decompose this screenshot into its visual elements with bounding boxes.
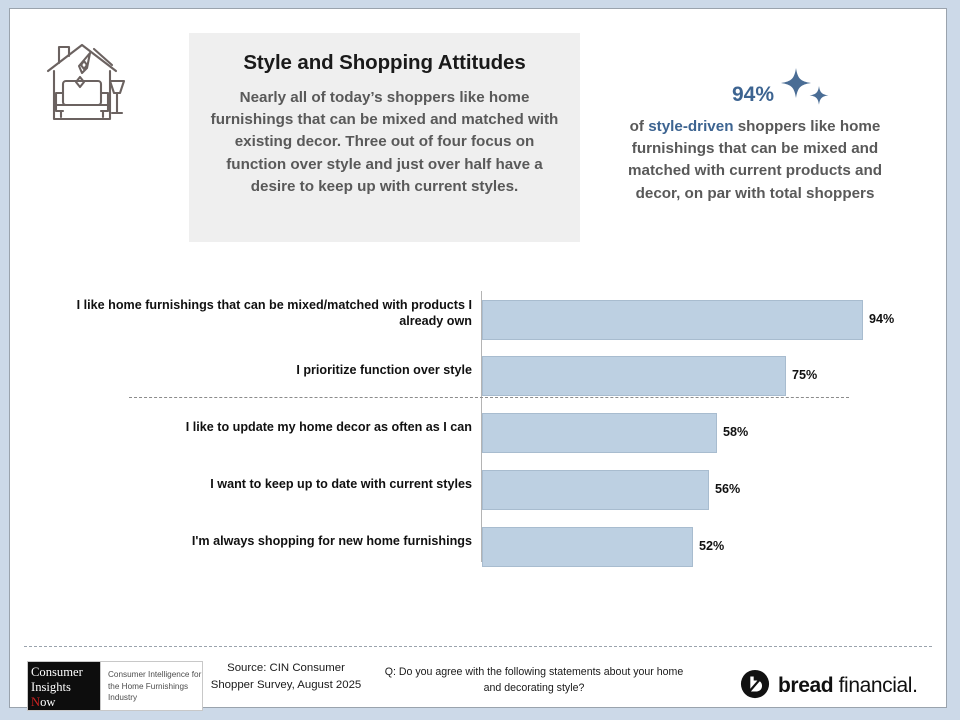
bar-label: I'm always shopping for new home furnish… — [70, 533, 472, 549]
home-decor-icon — [32, 33, 132, 133]
bar-label: I like home furnishings that can be mixe… — [70, 297, 472, 329]
summary-text: Nearly all of today’s shoppers like home… — [203, 87, 566, 198]
cin-logo-tagline: Consumer Intelligence for the Home Furni… — [100, 662, 202, 710]
page-title: Style and Shopping Attitudes — [203, 51, 566, 75]
cin-logo-line3: Now — [31, 695, 100, 710]
bar-fill — [482, 300, 863, 340]
callout-panel: 94% of style-driven shoppers like home f… — [610, 79, 900, 205]
cin-logo-n: N — [31, 695, 40, 709]
callout-stat-row: 94% — [610, 79, 900, 113]
bar-value-label: 52% — [699, 539, 724, 553]
cin-logo-line2: Insights — [31, 680, 100, 695]
bread-financial-logo: bread financial. — [740, 670, 918, 702]
chart-row: I want to keep up to date with current s… — [10, 467, 948, 511]
question-note: Q: Do you agree with the following state… — [378, 665, 690, 696]
bread-financial-wordmark: bread financial. — [778, 674, 918, 698]
callout-highlight: style-driven — [648, 118, 733, 135]
sparkles-icon — [778, 66, 838, 114]
title-panel: Style and Shopping Attitudes Nearly all … — [189, 33, 580, 242]
bread-word-bold: bread — [778, 674, 833, 697]
footer-divider — [24, 646, 932, 647]
bar-chart: I like home furnishings that can be mixe… — [10, 277, 948, 577]
callout-prefix: of — [630, 118, 649, 135]
bread-financial-mark-icon — [740, 669, 770, 704]
bar-value-label: 56% — [715, 482, 740, 496]
bar-fill — [482, 527, 693, 567]
chart-row: I prioritize function over style 75% — [10, 353, 948, 397]
cin-logo-mark: Consumer Insights Now — [28, 662, 100, 710]
bar-value-label: 75% — [792, 368, 817, 382]
callout-text: of style-driven shoppers like home furni… — [610, 116, 900, 205]
bar-fill — [482, 470, 709, 510]
bar-value-label: 58% — [723, 425, 748, 439]
chart-row: I like to update my home decor as often … — [10, 410, 948, 454]
cin-logo: Consumer Insights Now Consumer Intellige… — [27, 661, 203, 711]
bread-word-light: financial. — [833, 674, 917, 697]
bar-label: I like to update my home decor as often … — [70, 419, 472, 435]
bar-fill — [482, 413, 717, 453]
cin-logo-ow: ow — [40, 695, 55, 709]
chart-row: I'm always shopping for new home furnish… — [10, 524, 948, 568]
group-separator — [129, 397, 849, 398]
slide-canvas: Style and Shopping Attitudes Nearly all … — [9, 8, 947, 708]
chart-row: I like home furnishings that can be mixe… — [10, 279, 948, 323]
bar-fill — [482, 356, 786, 396]
cin-logo-line1: Consumer — [31, 665, 100, 680]
bar-label: I want to keep up to date with current s… — [70, 476, 472, 492]
callout-stat-value: 94% — [732, 83, 774, 107]
source-note: Source: CIN Consumer Shopper Survey, Aug… — [206, 660, 366, 693]
bar-value-label: 94% — [869, 312, 894, 326]
bar-label: I prioritize function over style — [70, 362, 472, 378]
